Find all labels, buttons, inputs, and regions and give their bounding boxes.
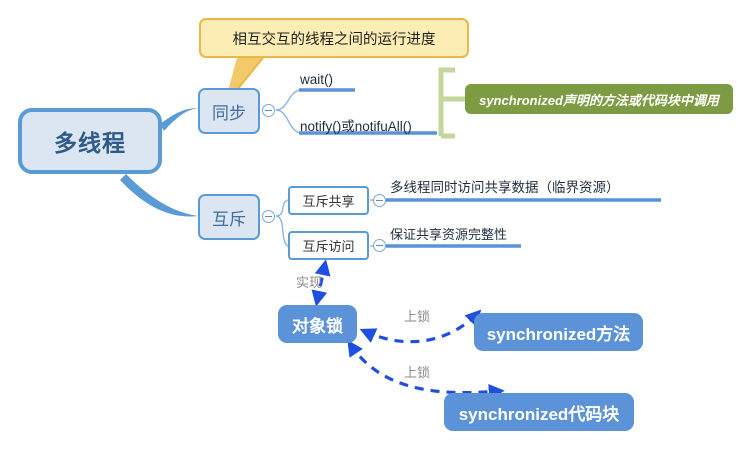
child-node-mutual-share[interactable]: 互斥共享 (288, 186, 369, 215)
green-bracket (441, 70, 455, 136)
green-note-box: synchronized声明的方法或代码块中调用 (465, 84, 733, 114)
branch-node-sync[interactable]: 同步 (198, 88, 260, 134)
edge-sync-to-wait (276, 90, 300, 110)
note-label-integrity: 保证共享资源完整性 (390, 224, 507, 243)
root-node-label: 多线程 (54, 124, 126, 158)
edge-sync-to-notify (276, 110, 300, 133)
child-node-mutual-access[interactable]: 互斥访问 (288, 231, 369, 260)
callout-text: 相互交互的线程之间的运行进度 (233, 28, 436, 49)
node-synchronized-block-label: synchronized代码块 (459, 400, 620, 425)
relation-label-lock-method: 上锁 (404, 306, 430, 325)
node-object-lock-label: 对象锁 (292, 312, 343, 337)
child-node-mutual-share-label: 互斥共享 (302, 191, 354, 210)
node-object-lock[interactable]: 对象锁 (278, 305, 357, 343)
branch-node-mutex-label: 互斥 (212, 205, 246, 230)
child-node-mutual-access-label: 互斥访问 (302, 236, 354, 255)
leaf-label-notify: notify()或notifuAll() (300, 115, 412, 135)
collapse-toggle-mutual-access[interactable] (373, 239, 386, 252)
mindmap-canvas: 相互交互的线程之间的运行进度 synchronized声明的方法或代码块中调用 … (0, 0, 737, 449)
collapse-toggle-mutex[interactable] (262, 210, 275, 223)
collapse-toggle-sync[interactable] (262, 104, 275, 117)
branch-node-mutex[interactable]: 互斥 (198, 194, 260, 240)
leaf-label-wait: wait() (300, 72, 333, 87)
node-synchronized-method-label: synchronized方法 (487, 320, 631, 345)
edge-mutex-to-share (276, 200, 288, 216)
edge-mutex-to-access (276, 216, 288, 246)
relation-label-lock-block: 上锁 (404, 362, 430, 381)
root-node-multithread[interactable]: 多线程 (18, 108, 162, 174)
edge-root-to-sync (160, 108, 198, 131)
node-synchronized-method[interactable]: synchronized方法 (474, 313, 643, 351)
node-synchronized-block[interactable]: synchronized代码块 (444, 393, 634, 431)
branch-node-sync-label: 同步 (212, 99, 246, 124)
collapse-toggle-mutual-share[interactable] (373, 194, 386, 207)
green-note-text: synchronized声明的方法或代码块中调用 (479, 90, 719, 109)
callout-note: 相互交互的线程之间的运行进度 (199, 18, 469, 58)
green-bracket-arm (441, 70, 465, 136)
relation-label-implements: 实现 (296, 272, 322, 291)
edge-root-to-mutex (120, 174, 198, 216)
note-label-shared-data: 多线程同时访问共享数据（临界资源） (390, 176, 620, 196)
connector-layer (0, 0, 737, 449)
